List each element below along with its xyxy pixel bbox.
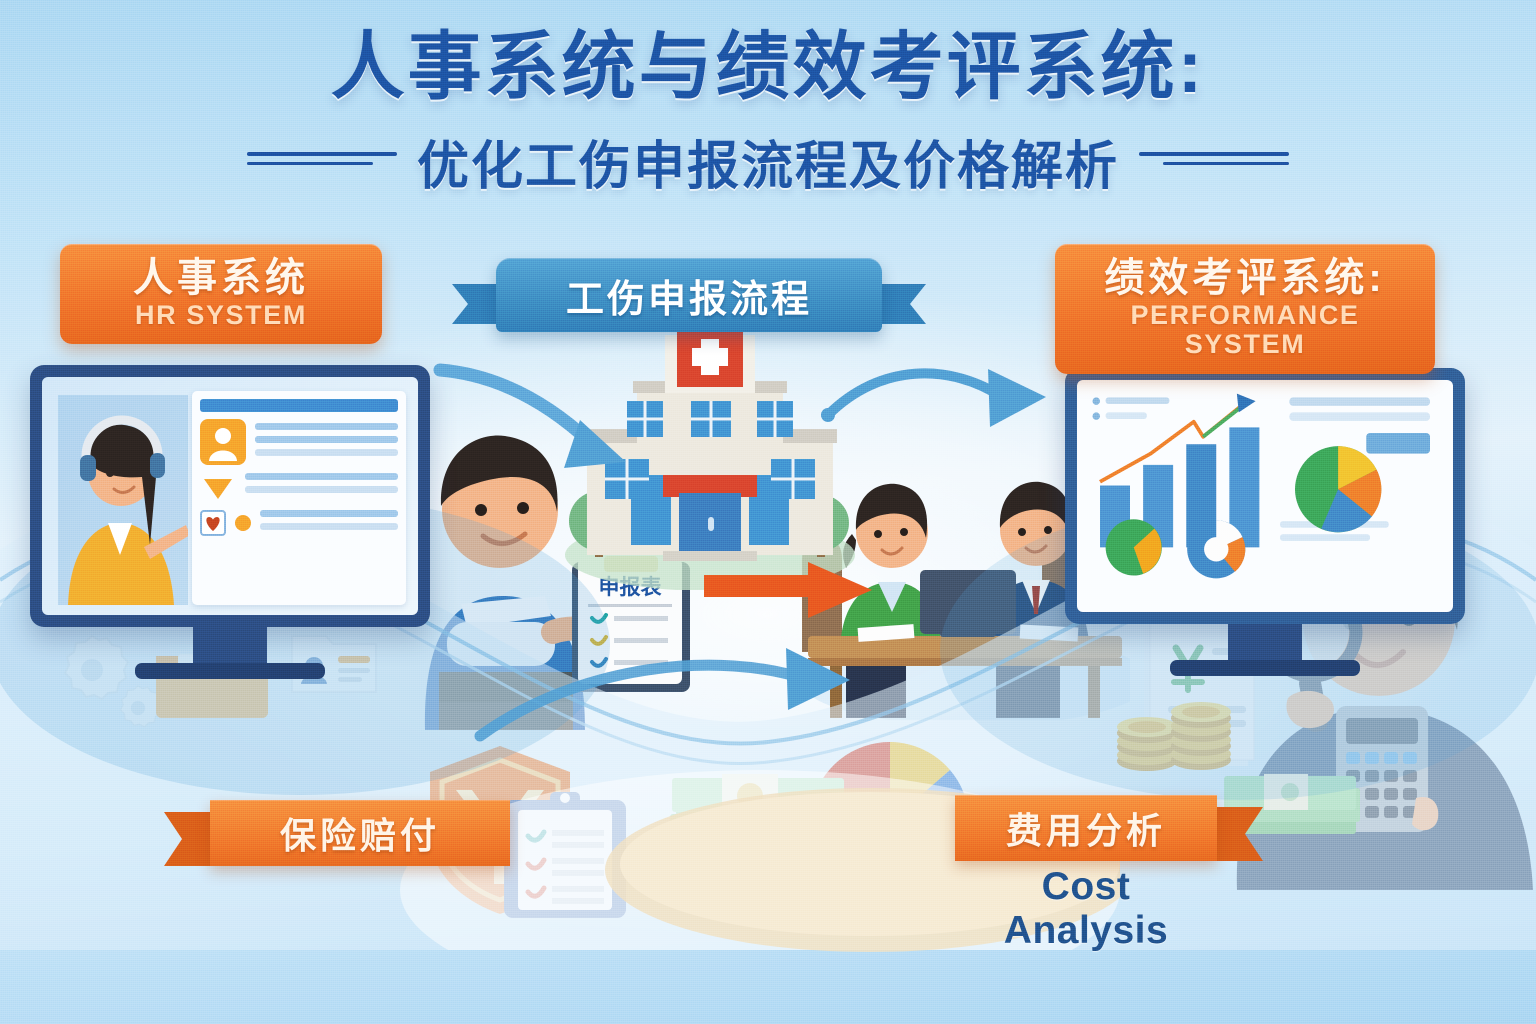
monitor-base <box>135 663 325 679</box>
ribbon-body: 保险赔付 <box>210 800 510 866</box>
hr-system-monitor[interactable] <box>30 365 430 679</box>
ribbon-body: 工伤申报流程 <box>496 258 882 332</box>
badge-performance-en: PERFORMANCE SYSTEM <box>1077 301 1413 360</box>
hr-agent-illustration <box>58 395 188 605</box>
form-row <box>245 473 398 480</box>
coin-stack <box>1166 678 1236 770</box>
ribbon-insurance-label: 保险赔付 <box>280 807 440 859</box>
monitor-screen <box>1077 380 1453 612</box>
form-row <box>255 449 398 456</box>
badge-hr-system[interactable]: 人事系统 HR SYSTEM <box>60 244 382 344</box>
checklist-clipboard-icon[interactable] <box>498 790 633 920</box>
form-row <box>260 510 398 517</box>
monitor-neck <box>193 627 267 663</box>
arrow-bottom-curve <box>470 640 860 760</box>
hr-record-panel <box>192 391 406 605</box>
coin-stack <box>748 846 828 910</box>
cost-analysis-en-label: Cost Analysis <box>955 865 1217 953</box>
monitor-screen <box>42 377 418 615</box>
ribbon-body: 费用分析 <box>955 795 1217 861</box>
page-title-block: 人事系统与绩效考评系统: 优化工伤申报流程及价格解析 <box>0 28 1536 199</box>
ribbon-claim-flow-label: 工伤申报流程 <box>566 268 812 323</box>
status-dot-icon <box>235 515 251 531</box>
page-title: 人事系统与绩效考评系统: <box>0 28 1536 106</box>
infographic-canvas: 人事系统与绩效考评系统: 优化工伤申报流程及价格解析 人事系统 HR SYSTE… <box>0 0 1536 1024</box>
ribbon-cost-label: 费用分析 <box>1006 802 1166 854</box>
form-row <box>260 523 398 530</box>
arrow-worker-to-meeting-red <box>700 560 880 630</box>
arrow-hospital-to-meeting <box>820 355 1050 445</box>
monitor-neck <box>1228 624 1302 660</box>
badge-performance-system[interactable]: 绩效考评系统: PERFORMANCE SYSTEM <box>1055 244 1435 374</box>
form-row <box>245 486 398 493</box>
chevron-down-icon <box>200 473 236 503</box>
heart-checkbox-icon[interactable] <box>200 510 226 536</box>
badge-performance-cn: 绩效考评系统: <box>1077 256 1413 301</box>
dashboard-charts <box>1085 388 1445 591</box>
page-subtitle-row: 优化工伤申报流程及价格解析 <box>0 124 1536 199</box>
performance-dashboard-monitor[interactable] <box>1065 368 1465 676</box>
form-row <box>255 436 398 443</box>
panel-title-bar <box>200 399 398 412</box>
ribbon-insurance-payout[interactable]: 保险赔付 <box>210 800 510 866</box>
ribbon-cost-analysis[interactable]: 费用分析 <box>955 795 1217 861</box>
form-row <box>255 423 398 430</box>
arrow-hr-to-hospital <box>430 350 650 480</box>
page-subtitle: 优化工伤申报流程及价格解析 <box>417 124 1119 199</box>
ribbon-claim-flow[interactable]: 工伤申报流程 <box>496 258 882 332</box>
monitor-frame <box>30 365 430 627</box>
user-profile-icon <box>200 419 246 465</box>
monitor-frame <box>1065 368 1465 624</box>
badge-hr-cn: 人事系统 <box>82 256 360 301</box>
badge-hr-en: HR SYSTEM <box>82 301 360 331</box>
monitor-base <box>1170 660 1360 676</box>
